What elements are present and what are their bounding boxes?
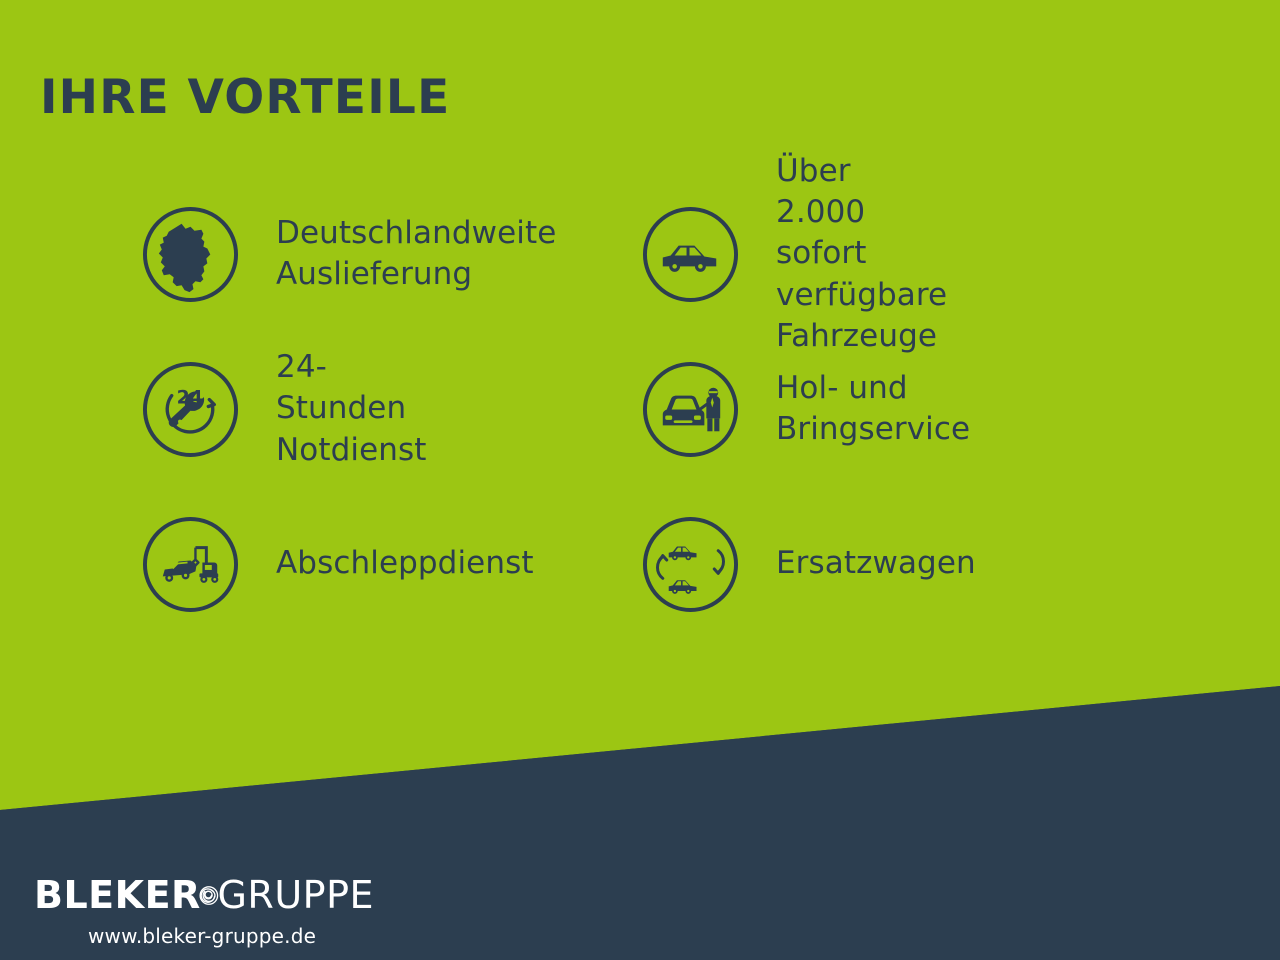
germany-map-icon (141, 205, 240, 304)
tow-truck-icon (141, 515, 240, 614)
benefit-item: Deutschlandweite Auslieferung (141, 202, 556, 306)
benefit-label: Deutschlandweite Auslieferung (276, 213, 556, 295)
car-with-person-icon (641, 360, 740, 459)
benefit-label: 24-Stunden Notdienst (276, 347, 427, 471)
brand-logo[interactable]: BLEKER GRUPPE www.bleker-gruppe.de (34, 872, 374, 948)
slide-canvas: IHRE VORTEILE Deutschlandweite Ausliefer… (0, 0, 1280, 960)
benefit-item: Über 2.000 sofort verfügbare Fahrzeuge (641, 202, 947, 306)
benefit-label: Abschleppdienst (276, 543, 534, 584)
24-hour-wrench-icon: 24 (141, 360, 240, 459)
website-url[interactable]: www.bleker-gruppe.de (88, 924, 374, 948)
benefit-item: Abschleppdienst (141, 512, 534, 616)
benefit-label: Ersatzwagen (776, 543, 976, 584)
logo-wordmark-row: BLEKER GRUPPE (34, 872, 374, 918)
car-exchange-icon (641, 515, 740, 614)
logo-primary-text: BLEKER (34, 876, 201, 914)
benefit-label: Über 2.000 sofort verfügbare Fahrzeuge (776, 151, 947, 357)
car-side-icon (641, 205, 740, 304)
logo-secondary-text: GRUPPE (217, 876, 374, 914)
benefit-item: Ersatzwagen (641, 512, 976, 616)
benefit-item: Hol- und Bringservice (641, 357, 970, 461)
benefit-label: Hol- und Bringservice (776, 368, 970, 450)
page-title: IHRE VORTEILE (40, 74, 450, 121)
benefit-item: 24 24-Stunden Notdienst (141, 357, 427, 461)
